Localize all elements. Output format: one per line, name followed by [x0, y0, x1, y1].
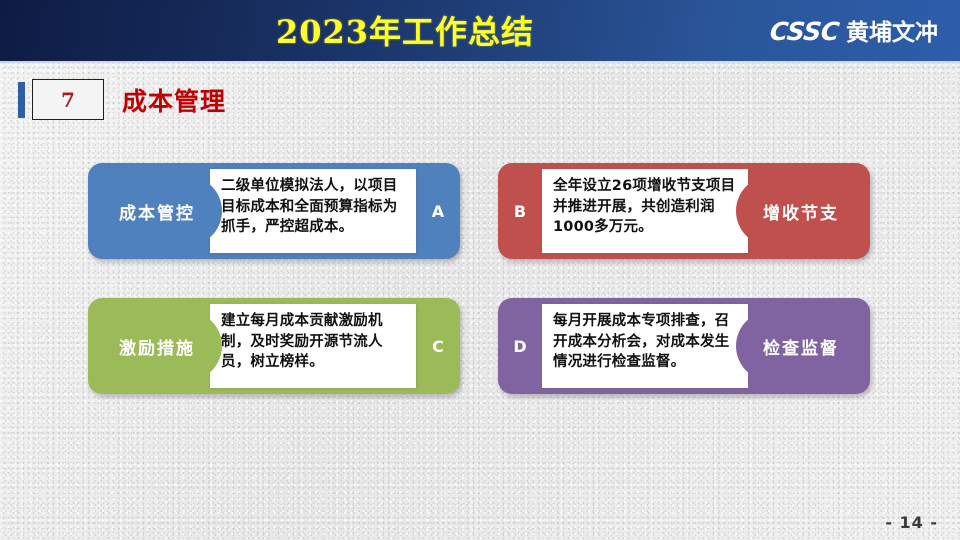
- content-card-a[interactable]: 二级单位模拟法人，以项目目标成本和全面预算指标为抓手，严控超成本。 成本管控 A: [88, 163, 460, 259]
- card-c-text-box: 建立每月成本贡献激励机制，及时奖励开源节流人员，树立榜样。: [210, 304, 416, 388]
- card-d-text: 每月开展成本专项排查，召开成本分析会，对成本发生情况进行检查监督。: [542, 304, 748, 388]
- section-accent-bar: [18, 82, 25, 118]
- content-card-b[interactable]: 全年设立26项增收节支项目并推进开展，共创造利润1000多万元。 增收节支 B: [498, 163, 870, 259]
- slide-canvas: 2023年工作总结 CSSC 黄埔文冲 7 成本管理 二级单位模拟法人，以项目目…: [0, 0, 960, 540]
- card-a-label: 成本管控: [92, 176, 222, 246]
- card-d-text-box: 每月开展成本专项排查，召开成本分析会，对成本发生情况进行检查监督。: [542, 304, 748, 388]
- slide-header: 2023年工作总结 CSSC 黄埔文冲: [0, 0, 960, 61]
- card-a-text-box: 二级单位模拟法人，以项目目标成本和全面预算指标为抓手，严控超成本。: [210, 169, 416, 253]
- card-c-label: 激励措施: [92, 311, 222, 381]
- logo-company-name: 黄埔文冲: [846, 13, 938, 47]
- card-c-letter: C: [416, 298, 460, 394]
- section-heading: 7 成本管理: [18, 79, 226, 120]
- section-title: 成本管理: [122, 82, 226, 118]
- card-b-text-box: 全年设立26项增收节支项目并推进开展，共创造利润1000多万元。: [542, 169, 748, 253]
- company-logo: CSSC 黄埔文冲: [770, 13, 938, 47]
- page-number: - 14 -: [885, 513, 938, 532]
- card-d-label: 检查监督: [736, 311, 866, 381]
- card-a-letter: A: [416, 163, 460, 259]
- section-number-box: 7: [32, 79, 104, 120]
- card-b-text: 全年设立26项增收节支项目并推进开展，共创造利润1000多万元。: [542, 169, 748, 253]
- content-card-c[interactable]: 建立每月成本贡献激励机制，及时奖励开源节流人员，树立榜样。 激励措施 C: [88, 298, 460, 394]
- card-b-label: 增收节支: [736, 176, 866, 246]
- card-c-text: 建立每月成本贡献激励机制，及时奖励开源节流人员，树立榜样。: [210, 304, 416, 388]
- card-b-letter: B: [498, 163, 542, 259]
- section-number: 7: [61, 88, 75, 112]
- card-d-letter: D: [498, 298, 542, 394]
- header-divider: [0, 61, 960, 63]
- content-card-d[interactable]: 每月开展成本专项排查，召开成本分析会，对成本发生情况进行检查监督。 检查监督 D: [498, 298, 870, 394]
- logo-mark-text: CSSC: [769, 17, 841, 46]
- card-a-text: 二级单位模拟法人，以项目目标成本和全面预算指标为抓手，严控超成本。: [210, 169, 416, 253]
